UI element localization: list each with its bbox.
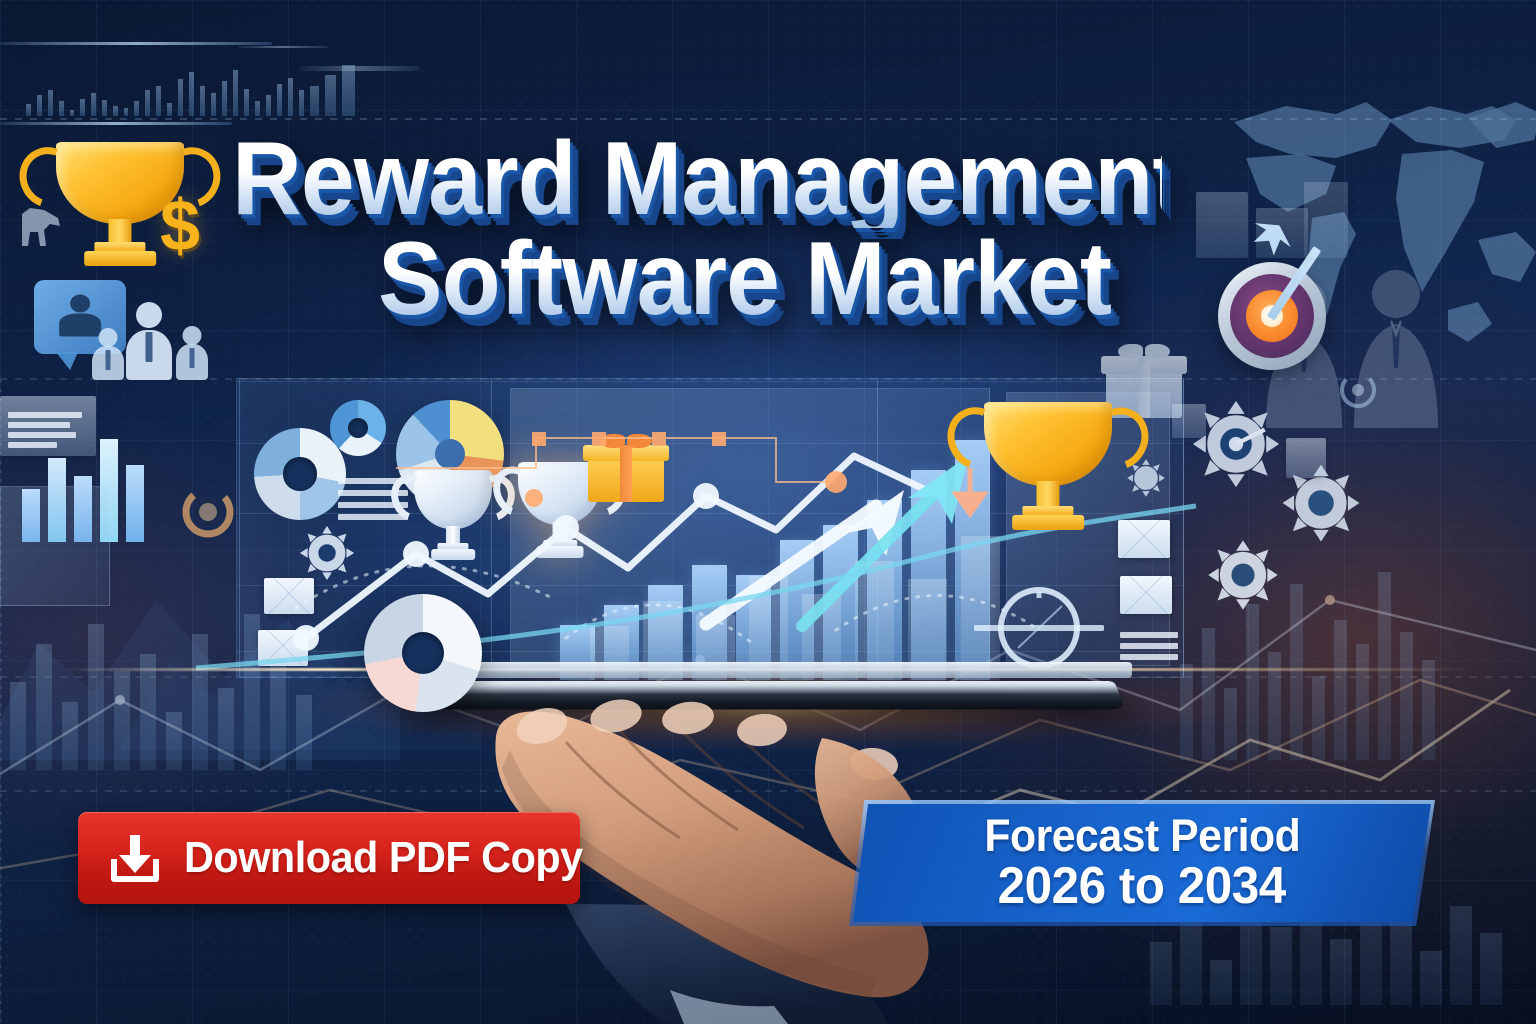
download-pdf-button[interactable]: Download PDF Copy — [78, 812, 580, 904]
donut-chart-icon — [364, 594, 482, 712]
panel-card — [1286, 438, 1326, 478]
panel-card — [1304, 182, 1348, 258]
gear-icon — [1206, 538, 1280, 612]
download-pdf-label: Download PDF Copy — [184, 833, 583, 883]
banner-title: Reward Management Software Market — [232, 132, 1232, 327]
refresh-circle-icon — [176, 480, 240, 544]
document-lines-icon — [1120, 632, 1178, 660]
envelope-icon — [1118, 520, 1170, 558]
background-top-strip-chart — [0, 0, 430, 140]
refresh-circle-icon — [1336, 368, 1380, 412]
title-line-1: Reward Management — [232, 132, 1162, 228]
target-dart-icon — [1218, 262, 1326, 370]
trophy-icon — [984, 402, 1112, 530]
forecast-range: 2026 to 2034 — [998, 860, 1286, 913]
dollar-sign-icon: $ — [160, 190, 200, 262]
download-icon — [108, 833, 162, 883]
promo-banner: $ — [0, 0, 1536, 1024]
tablet-screen-edge — [432, 662, 1132, 678]
panel-card — [1256, 208, 1308, 258]
forecast-period-banner[interactable]: Forecast Period 2026 to 2034 — [853, 804, 1431, 922]
chart-card — [0, 486, 110, 606]
people-group-icon — [92, 300, 212, 380]
envelope-icon — [1120, 576, 1172, 614]
abstract-glyph-icon — [14, 200, 70, 252]
forecast-heading: Forecast Period — [984, 813, 1300, 859]
title-line-2: Software Market — [378, 232, 1172, 328]
panel-card — [1172, 404, 1206, 438]
